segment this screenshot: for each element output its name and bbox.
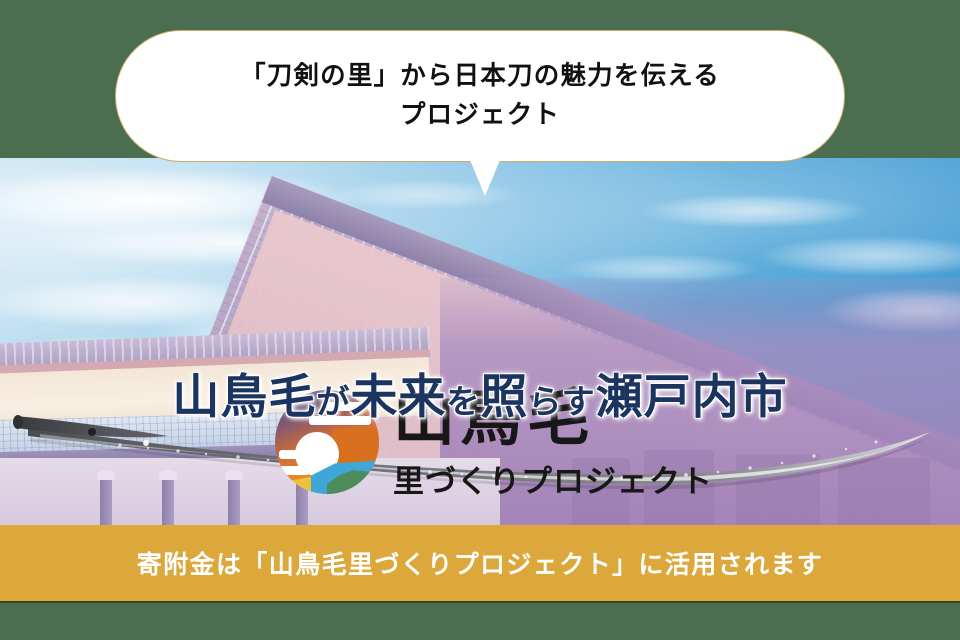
tagline-terasu-kanji: 照 <box>480 372 528 424</box>
logo-subtitle: 里づくりプロジェクト <box>393 456 713 501</box>
wall-panel <box>736 454 820 525</box>
tagline-particle-wo: を <box>446 385 480 421</box>
hero-tagline: 山鳥毛が未来を照らす瀬戸内市 <box>0 358 960 427</box>
fence-post-cap <box>97 470 115 480</box>
fence-post-cap <box>159 470 177 480</box>
speech-bubble-text: 「刀剣の里」から日本刀の魅力を伝える プロジェクト <box>240 57 720 135</box>
emblem-cloud-bar <box>275 466 309 475</box>
donation-banner: 寄附金は「山鳥毛里づくりプロジェクト」に活用されます <box>0 525 960 603</box>
bottom-background-band <box>0 605 960 640</box>
emblem-cloud-bar <box>279 450 323 459</box>
donation-banner-text: 寄附金は「山鳥毛里づくりプロジェクト」に活用されます <box>137 545 823 581</box>
speech-bubble-tail <box>470 160 500 196</box>
speech-bubble-line-1: 「刀剣の里」から日本刀の魅力を伝える <box>240 57 720 96</box>
tagline-mirai: 未来 <box>350 372 446 424</box>
tagline-particle-ga: が <box>316 385 350 421</box>
promo-banner-root: 山鳥毛 里づくりプロジェクト 山鳥毛が未来を照らす瀬戸内市 「刀剣の里」から日本… <box>0 0 960 640</box>
hero-photo: 山鳥毛 里づくりプロジェクト 山鳥毛が未来を照らす瀬戸内市 <box>0 158 960 525</box>
fence-post <box>228 476 240 525</box>
tagline-city-name: 瀬戸内市 <box>596 372 788 424</box>
speech-bubble: 「刀剣の里」から日本刀の魅力を伝える プロジェクト <box>115 30 845 162</box>
fence-post <box>162 476 174 525</box>
fence-post-cap <box>225 470 243 480</box>
fence-post <box>100 476 112 525</box>
speech-bubble-line-2: プロジェクト <box>240 96 720 135</box>
tagline-yamatorige: 山鳥毛 <box>172 372 316 424</box>
wall-panel <box>838 458 930 525</box>
tagline-terasu-kana: らす <box>528 385 595 421</box>
emblem-yellow-shore <box>275 476 317 494</box>
